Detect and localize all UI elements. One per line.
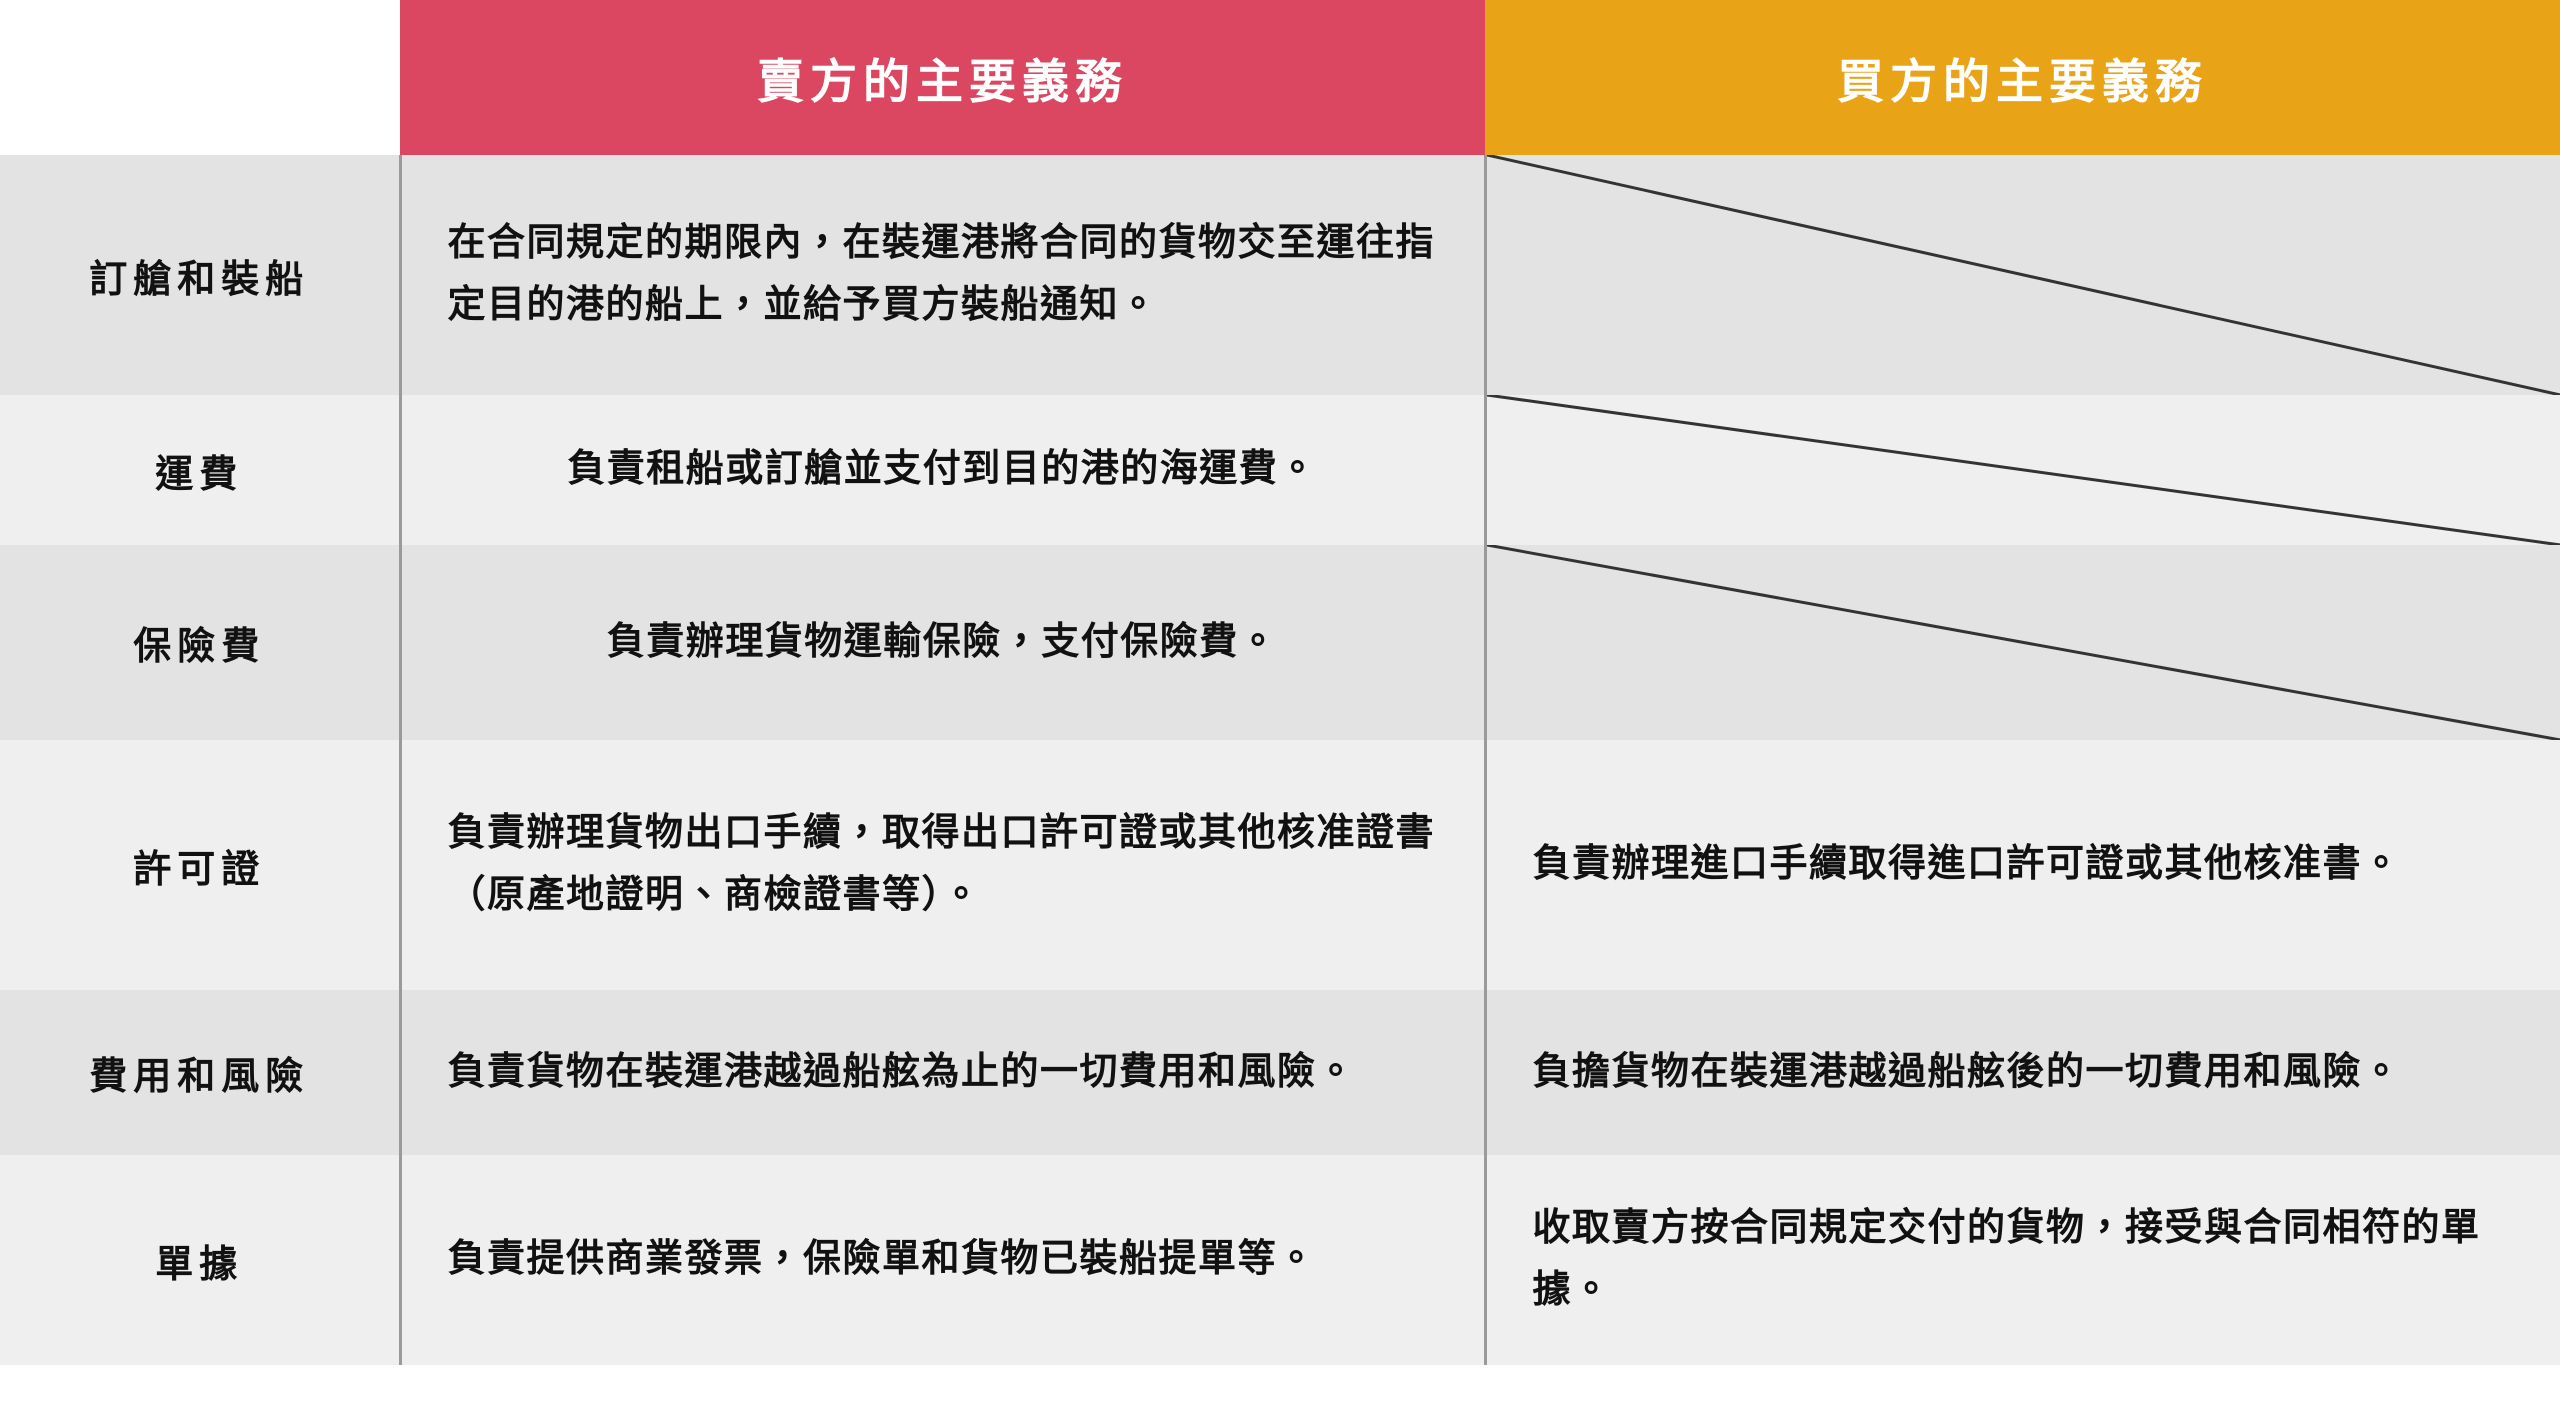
buyer-obligation-cell: 負責辦理進口手續取得進口許可證或其他核准書。 [1485,740,2560,990]
seller-obligation-cell: 在合同規定的期限內，在裝運港將合同的貨物交至運往指定目的港的船上，並給予買方裝船… [400,155,1485,395]
not-applicable-diagonal-icon [1487,395,2560,545]
buyer-obligation-cell [1485,395,2560,545]
table-row: 運費負責租船或訂艙並支付到目的港的海運費。 [0,395,2560,545]
seller-obligation-cell: 負責提供商業發票，保險單和貨物已裝船提單等。 [400,1155,1485,1365]
not-applicable-diagonal-icon [1487,545,2560,740]
table-row: 費用和風險負責貨物在裝運港越過船舷為止的一切費用和風險。負擔貨物在裝運港越過船舷… [0,990,2560,1155]
table-header: 賣方的主要義務 買方的主要義務 [0,0,2560,155]
buyer-obligation-cell [1485,545,2560,740]
buyer-obligation-text: 負責辦理進口手續取得進口許可證或其他核准書。 [1533,834,2515,896]
buyer-obligation-text: 收取賣方按合同規定交付的貨物，接受與合同相符的單據。 [1533,1198,2515,1321]
obligations-comparison-sheet: 賣方的主要義務 買方的主要義務 訂艙和裝船在合同規定的期限內，在裝運港將合同的貨… [0,0,2560,1401]
buyer-obligation-cell [1485,155,2560,395]
row-label: 訂艙和裝船 [0,155,400,395]
seller-obligation-text: 負責辦理貨物出口手續，取得出口許可證或其他核准證書（原產地證明、商檢證書等）。 [448,803,1438,926]
row-label: 費用和風險 [0,990,400,1155]
seller-obligation-text: 在合同規定的期限內，在裝運港將合同的貨物交至運往指定目的港的船上，並給予買方裝船… [448,213,1438,336]
header-row: 賣方的主要義務 買方的主要義務 [0,0,2560,155]
header-seller-obligations: 賣方的主要義務 [400,0,1485,155]
obligations-table: 賣方的主要義務 買方的主要義務 訂艙和裝船在合同規定的期限內，在裝運港將合同的貨… [0,0,2560,1365]
not-applicable-diagonal-icon [1487,155,2560,395]
row-label: 單據 [0,1155,400,1365]
seller-obligation-text: 負責提供商業發票，保險單和貨物已裝船提單等。 [448,1229,1438,1291]
seller-obligation-cell: 負責辦理貨物運輸保險，支付保險費。 [400,545,1485,740]
row-label: 運費 [0,395,400,545]
table-row: 單據負責提供商業發票，保險單和貨物已裝船提單等。收取賣方按合同規定交付的貨物，接… [0,1155,2560,1365]
seller-obligation-text: 負責貨物在裝運港越過船舷為止的一切費用和風險。 [448,1042,1438,1104]
seller-obligation-text: 負責租船或訂艙並支付到目的港的海運費。 [448,439,1438,501]
buyer-obligation-cell: 負擔貨物在裝運港越過船舷後的一切費用和風險。 [1485,990,2560,1155]
row-label: 保險費 [0,545,400,740]
table-row: 保險費負責辦理貨物運輸保險，支付保險費。 [0,545,2560,740]
seller-obligation-cell: 負責租船或訂艙並支付到目的港的海運費。 [400,395,1485,545]
table-row: 訂艙和裝船在合同規定的期限內，在裝運港將合同的貨物交至運往指定目的港的船上，並給… [0,155,2560,395]
table-row: 許可證負責辦理貨物出口手續，取得出口許可證或其他核准證書（原產地證明、商檢證書等… [0,740,2560,990]
seller-obligation-cell: 負責貨物在裝運港越過船舷為止的一切費用和風險。 [400,990,1485,1155]
table-body: 訂艙和裝船在合同規定的期限內，在裝運港將合同的貨物交至運往指定目的港的船上，並給… [0,155,2560,1365]
buyer-obligation-cell: 收取賣方按合同規定交付的貨物，接受與合同相符的單據。 [1485,1155,2560,1365]
header-corner-blank [0,0,400,155]
seller-obligation-text: 負責辦理貨物運輸保險，支付保險費。 [448,612,1438,674]
header-buyer-obligations: 買方的主要義務 [1485,0,2560,155]
buyer-obligation-text: 負擔貨物在裝運港越過船舷後的一切費用和風險。 [1533,1042,2515,1104]
seller-obligation-cell: 負責辦理貨物出口手續，取得出口許可證或其他核准證書（原產地證明、商檢證書等）。 [400,740,1485,990]
row-label: 許可證 [0,740,400,990]
